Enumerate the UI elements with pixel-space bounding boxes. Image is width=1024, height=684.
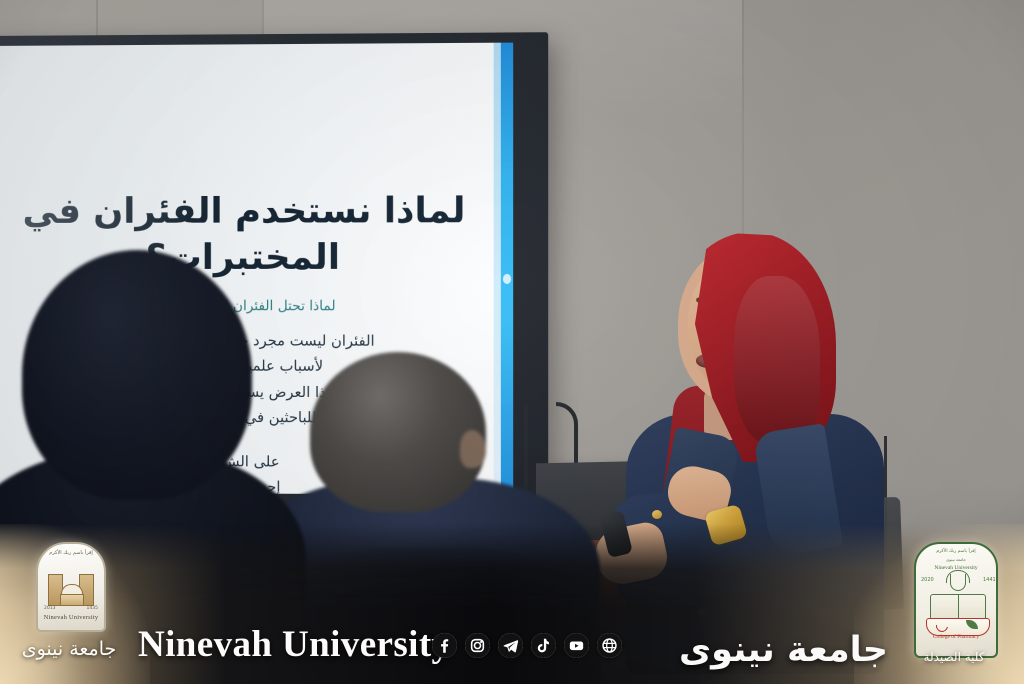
brand-name-ar: جامعة نينوى bbox=[679, 630, 888, 670]
youtube-icon[interactable] bbox=[564, 633, 589, 658]
mashki-gate-icon bbox=[48, 574, 94, 604]
crest-name-en: Ninevah University bbox=[38, 614, 104, 621]
crest-shield: إقرأ باسم ربك الأكرم 2013 1435 Ninevah U… bbox=[36, 542, 106, 632]
crest-college-en: College of Pharmacy bbox=[916, 634, 996, 640]
crest-name-ar: جامعة نينوى bbox=[20, 638, 118, 660]
gate-wall bbox=[60, 594, 84, 606]
crest-years: 2013 1435 bbox=[38, 606, 104, 611]
audience-ear bbox=[460, 430, 486, 468]
presenter-hijab-fold bbox=[734, 276, 820, 444]
college-of-pharmacy-crest: إقرأ باسم ربك الأكرم جامعة نينوى Ninevah… bbox=[906, 542, 1002, 662]
slide-accent-dot bbox=[503, 274, 511, 284]
telegram-icon[interactable] bbox=[498, 633, 523, 658]
crest-year-left: 2020 bbox=[921, 578, 929, 583]
website-globe-icon[interactable] bbox=[597, 633, 622, 658]
crest-university-ar: جامعة نينوى bbox=[916, 557, 996, 562]
photo-canvas: لماذا نستخدم الفئران في المختبرات؟ لماذا… bbox=[0, 0, 1024, 684]
crest-motto: إقرأ باسم ربك الأكرم bbox=[916, 549, 996, 554]
crest-year-left: 2013 bbox=[44, 606, 55, 611]
crest-shield: إقرأ باسم ربك الأكرم جامعة نينوى Ninevah… bbox=[914, 542, 998, 658]
ninevah-university-crest: إقرأ باسم ربك الأكرم 2013 1435 Ninevah U… bbox=[22, 542, 116, 658]
bowl-icon bbox=[950, 574, 966, 591]
crest-year-right: 1435 bbox=[87, 606, 98, 611]
presenter-ring bbox=[652, 510, 662, 519]
audience-head-hijab bbox=[22, 250, 252, 500]
crest-year-right: 1441 bbox=[983, 578, 991, 583]
tiktok-icon[interactable] bbox=[531, 633, 556, 658]
social-icons bbox=[432, 633, 622, 658]
crest-college-ar: كلية الصيدلة bbox=[906, 650, 1002, 664]
facebook-icon[interactable] bbox=[432, 633, 457, 658]
crest-motto: إقرأ باسم ربك الأكرم bbox=[38, 550, 104, 556]
audience-head bbox=[310, 352, 486, 512]
instagram-icon[interactable] bbox=[465, 633, 490, 658]
brand-name-en: Ninevah University bbox=[138, 623, 450, 666]
